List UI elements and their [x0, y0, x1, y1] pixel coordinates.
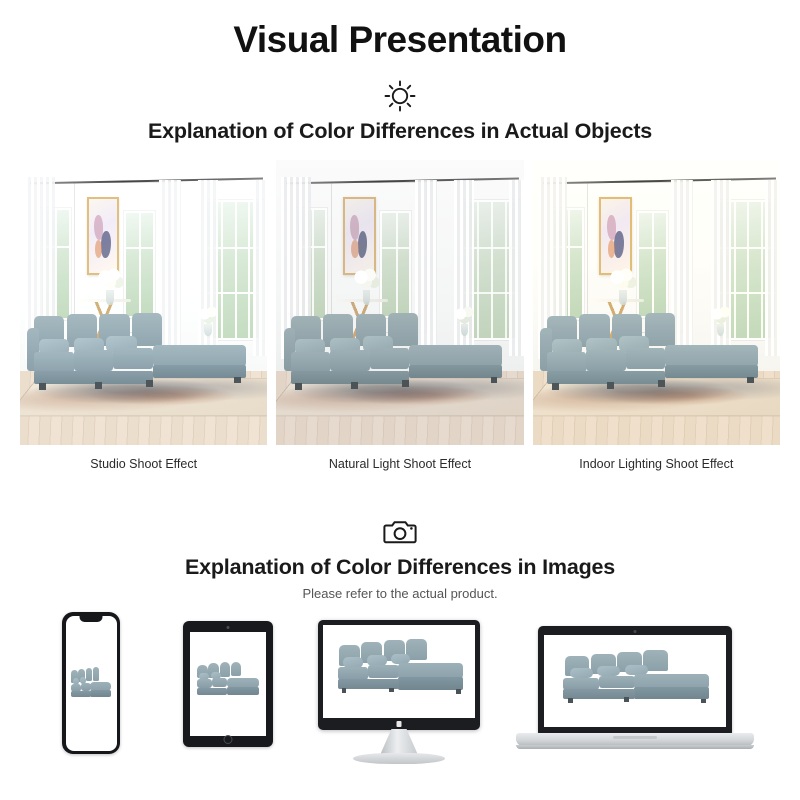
section-subheading-images: Please refer to the actual product. — [0, 580, 800, 601]
flower-vase-console — [609, 268, 636, 305]
flower-vase-console — [97, 268, 124, 305]
camera-icon — [383, 517, 417, 547]
photo-caption-studio: Studio Shoot Effect — [90, 445, 197, 471]
sectional-sofa — [538, 311, 770, 405]
photo-cell-natural: Natural Light Shoot Effect — [276, 160, 523, 471]
section-heading-images: Explanation of Color Differences in Imag… — [0, 553, 800, 580]
device-smartphone — [62, 612, 120, 754]
room-photo-indoor — [533, 160, 780, 445]
smartphone-screen — [66, 616, 117, 751]
sectional-sofa — [555, 650, 719, 716]
monitor-stand-neck — [380, 729, 418, 755]
photo-caption-indoor: Indoor Lighting Shoot Effect — [579, 445, 733, 471]
page-title: Visual Presentation — [0, 0, 800, 61]
sectional-sofa — [25, 311, 257, 405]
tablet-camera-icon — [227, 626, 230, 629]
device-monitor — [318, 620, 480, 765]
laptop-camera-icon — [634, 630, 637, 633]
sectional-sofa — [281, 311, 513, 405]
sun-icon — [383, 79, 417, 113]
sun-icon-row — [0, 75, 800, 117]
smartphone-notch — [80, 616, 103, 622]
camera-icon-row — [0, 511, 800, 553]
photo-strip: Studio Shoot Effect — [0, 160, 800, 471]
tablet-screen — [190, 632, 266, 736]
room-photo-natural — [276, 160, 523, 445]
sectional-sofa — [331, 638, 471, 707]
laptop-trackpad-notch — [613, 736, 657, 739]
monitor-brand-logo-icon — [397, 721, 402, 727]
framed-artwork — [343, 197, 375, 275]
monitor-screen — [323, 625, 475, 718]
tablet-home-button[interactable] — [224, 735, 233, 744]
laptop-screen — [544, 635, 726, 727]
monitor-stand-base — [353, 753, 445, 764]
device-tablet — [183, 621, 273, 747]
room-photo-studio — [20, 160, 267, 445]
sectional-sofa — [193, 661, 263, 707]
photo-cell-indoor: Indoor Lighting Shoot Effect — [533, 160, 780, 471]
framed-artwork — [87, 197, 119, 275]
device-strip — [0, 612, 800, 772]
flower-vase-console — [353, 268, 380, 305]
monitor-bezel — [318, 620, 480, 730]
device-laptop — [516, 626, 754, 754]
laptop-foot — [516, 745, 754, 749]
photo-caption-natural: Natural Light Shoot Effect — [329, 445, 471, 471]
photo-cell-studio: Studio Shoot Effect — [20, 160, 267, 471]
laptop-lid — [538, 626, 732, 734]
section-heading-actual-objects: Explanation of Color Differences in Actu… — [0, 117, 800, 144]
framed-artwork — [599, 197, 631, 275]
sectional-sofa — [69, 667, 114, 708]
